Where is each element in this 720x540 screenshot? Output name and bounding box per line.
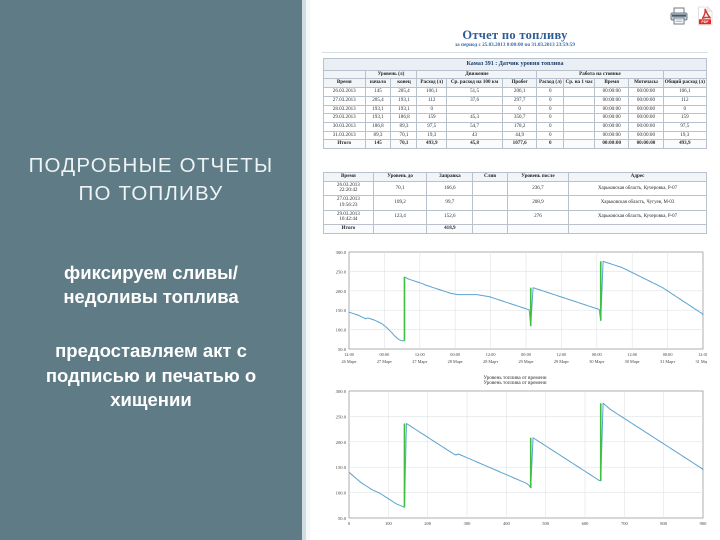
x-tick-time: 12:00 xyxy=(344,352,354,357)
x-tick-time: 00:00 xyxy=(592,352,602,357)
table-total-cell: Итого xyxy=(324,140,366,149)
table-cell: Харьковская область, Чугуев, М-03 xyxy=(569,196,707,210)
table1-caption: Камаз 391 : Датчик уровня топлива xyxy=(324,59,707,71)
table2-col-drain: Слив xyxy=(473,173,507,182)
table-cell: 54,7 xyxy=(447,122,503,131)
table1-col-engine-hours: Моточасы xyxy=(629,79,663,88)
pdf-badge-label: PDF xyxy=(701,20,709,24)
report-period: за период с 25.03.2013 0:00:00 по 31.03.… xyxy=(310,42,720,48)
x-tick-date: 27 Март xyxy=(412,359,427,364)
table1-header-row: Время начало конец Расход (л) Ср. расход… xyxy=(324,79,707,88)
x-tick-date: 30 Март xyxy=(625,359,640,364)
table-cell: 0 xyxy=(537,131,564,140)
x-tick-date: 29 Март xyxy=(518,359,533,364)
table-total-cell: Итого xyxy=(324,224,374,233)
table2-body: 26.03.201322:20:4270,1166,6236,7Харьковс… xyxy=(324,181,707,233)
x-tick-date: 27 Март xyxy=(377,359,392,364)
table-cell: 276 xyxy=(507,210,568,224)
table-cell xyxy=(564,122,595,131)
table2-col-level-before: Уровень до xyxy=(373,173,427,182)
table-cell xyxy=(564,96,595,105)
table-total-cell: 0 xyxy=(537,140,564,149)
table-cell: 00:00:00 xyxy=(595,131,629,140)
table-cell: 00:00:00 xyxy=(595,114,629,123)
left-promo-panel: ПОДРОБНЫЕ ОТЧЕТЫ ПО ТОПЛИВУ фиксируем сл… xyxy=(0,0,302,540)
table2-col-time: Время xyxy=(324,173,374,182)
table-cell: 206,1 xyxy=(503,88,537,97)
table-cell: 193,1 xyxy=(365,105,391,114)
table-cell: 0 xyxy=(503,105,537,114)
x-tick-label: 300 xyxy=(464,521,472,526)
table-cell: 97,5 xyxy=(417,122,447,131)
promo-bullet-2-line1: предоставляем акт с xyxy=(46,339,256,363)
table-cell: 51,5 xyxy=(447,88,503,97)
promo-headline-line2: ПО ТОПЛИВУ xyxy=(29,180,274,208)
y-tick-label: 100.0 xyxy=(336,491,347,496)
table-cell: 109,2 xyxy=(373,196,427,210)
table-cell: 89,3 xyxy=(391,122,417,131)
table-total-cell: 493,9 xyxy=(663,140,706,149)
table-cell: 00:00:00 xyxy=(595,88,629,97)
table1-col-park-time: Время xyxy=(595,79,629,88)
table1-group-header-row: Уровень (л) Движение Работа на стоянке xyxy=(324,70,707,79)
y-tick-label: 150.0 xyxy=(336,465,347,470)
table-cell: 123,4 xyxy=(373,210,427,224)
x-tick-label: 0 xyxy=(348,521,351,526)
table-row: 30.03.2013186,889,397,554,7178,2000:00:0… xyxy=(324,122,707,131)
table1-col-mileage: Пробег xyxy=(503,79,537,88)
table2-col-address: Адрес xyxy=(569,173,707,182)
table1-col-end: конец xyxy=(391,79,417,88)
table2-header-row: Время Уровень до Заправка Слив Уровень п… xyxy=(324,173,707,182)
table-total-cell xyxy=(373,224,427,233)
chart-svg: 50.0100.0150.0200.0250.0300.001002003004… xyxy=(323,386,707,532)
table-cell: 27.03.2013 xyxy=(324,96,366,105)
table-total-cell: 493,9 xyxy=(417,140,447,149)
fuel-summary-table: Камаз 391 : Датчик уровня топлива Уровен… xyxy=(323,58,707,149)
table-cell: 0 xyxy=(417,105,447,114)
x-tick-label: 600 xyxy=(582,521,590,526)
table-total-cell xyxy=(507,224,568,233)
y-tick-label: 300.0 xyxy=(336,389,347,394)
table1-col-start: начало xyxy=(365,79,391,88)
x-tick-date: 31 Март xyxy=(660,359,675,364)
table-cell: 43 xyxy=(447,131,503,140)
y-tick-label: 150.0 xyxy=(336,308,347,313)
table-cell: 166,6 xyxy=(427,181,473,195)
table-cell: 27.03.201319:56:23 xyxy=(324,196,374,210)
table-cell: Харьковская область, Кучеровка, Р-07 xyxy=(569,210,707,224)
report-pane: PDF Отчет по топливу за период с 25.03.2… xyxy=(310,0,720,540)
table-total-cell: 1077,6 xyxy=(503,140,537,149)
x-tick-date: 28 Март xyxy=(448,359,463,364)
table-row: 26.03.2013145205,4106,151,5206,1000:00:0… xyxy=(324,88,707,97)
x-tick-time: 00:00 xyxy=(663,352,673,357)
table-cell: 159 xyxy=(663,114,706,123)
table-cell: Харьковская область, Кучеровка, Р-07 xyxy=(569,181,707,195)
table-total-cell: 418,9 xyxy=(427,224,473,233)
x-tick-date: 28 Март xyxy=(483,359,498,364)
title-divider xyxy=(322,52,708,53)
table1-body: 26.03.2013145205,4106,151,5206,1000:00:0… xyxy=(324,88,707,149)
table-cell: 145 xyxy=(365,88,391,97)
x-tick-time: 12:00 xyxy=(486,352,496,357)
x-tick-time: 00:00 xyxy=(521,352,531,357)
x-tick-time: 12:00 xyxy=(627,352,637,357)
table2-col-level-after: Уровень после xyxy=(507,173,568,182)
table-cell: 205,4 xyxy=(391,88,417,97)
table-total-cell: 00:00:00 xyxy=(629,140,663,149)
promo-bullet-2: предоставляем акт с подписью и печатью о… xyxy=(46,339,256,412)
table-cell: 19,3 xyxy=(417,131,447,140)
table-cell: 29.03.2013 xyxy=(324,114,366,123)
table-cell: 236,7 xyxy=(507,181,568,195)
fuel-level-chart-by-time: 50.0100.0150.0200.0250.0300.012:0026 Мар… xyxy=(323,247,707,375)
x-tick-label: 200 xyxy=(424,521,432,526)
table-total-cell xyxy=(564,140,595,149)
table-cell: 0 xyxy=(537,105,564,114)
table-cell: 193,1 xyxy=(391,105,417,114)
refuel-events-table: Время Уровень до Заправка Слив Уровень п… xyxy=(323,172,707,234)
table-cell: 152,6 xyxy=(427,210,473,224)
table-cell xyxy=(473,181,507,195)
x-tick-label: 800 xyxy=(660,521,668,526)
promo-bullet-1-line1: фиксируем сливы/ xyxy=(63,261,238,285)
table1-col-avg-100km: Ср. расход на 100 км xyxy=(447,79,503,88)
table-cell: 45,3 xyxy=(447,114,503,123)
table-total-cell: 70,1 xyxy=(391,140,417,149)
table-total-row: Итого14570,1493,945,81077,6000:00:0000:0… xyxy=(324,140,707,149)
y-tick-label: 100.0 xyxy=(336,328,347,333)
table-cell: 70,1 xyxy=(391,131,417,140)
table-total-cell xyxy=(569,224,707,233)
table-cell: 00:00:00 xyxy=(595,105,629,114)
table-cell: 205,4 xyxy=(365,96,391,105)
x-tick-label: 900 xyxy=(700,521,707,526)
table-cell: 19,3 xyxy=(663,131,706,140)
table1-group-parking: Работа на стоянке xyxy=(537,70,663,79)
x-tick-time: 12:00 xyxy=(557,352,567,357)
x-tick-label: 100 xyxy=(385,521,393,526)
table-cell: 89,3 xyxy=(365,131,391,140)
table-cell: 0 xyxy=(537,114,564,123)
table-cell xyxy=(564,131,595,140)
table-cell: 00:00:00 xyxy=(629,114,663,123)
table-cell: 350,7 xyxy=(503,114,537,123)
table-cell: 106,1 xyxy=(663,88,706,97)
table-cell: 0 xyxy=(663,105,706,114)
y-tick-label: 300.0 xyxy=(336,250,347,255)
table-cell: 186,8 xyxy=(365,122,391,131)
table-cell: 208,9 xyxy=(507,196,568,210)
table-row: 31.03.201389,370,119,34344,9000:00:0000:… xyxy=(324,131,707,140)
table-cell: 00:00:00 xyxy=(629,88,663,97)
table-cell: 26.03.201322:20:42 xyxy=(324,181,374,195)
table2-col-refuel: Заправка xyxy=(427,173,473,182)
promo-bullet-2-line3: хищении xyxy=(46,388,256,412)
chart2-caption: Уровень топлива от времени xyxy=(323,380,707,386)
table1-col-avg-hour: Ср. на 1 час xyxy=(564,79,595,88)
x-tick-time: 00:00 xyxy=(450,352,460,357)
table-row: 29.03.2013193,1186,815945,3350,7000:00:0… xyxy=(324,114,707,123)
table-cell: 00:00:00 xyxy=(629,131,663,140)
table-cell: 178,2 xyxy=(503,122,537,131)
table-cell xyxy=(564,105,595,114)
table-cell xyxy=(564,114,595,123)
table-total-cell: 145 xyxy=(365,140,391,149)
table-cell xyxy=(473,210,507,224)
table-cell: 112 xyxy=(663,96,706,105)
fuel-level-chart-by-index: 50.0100.0150.0200.0250.0300.001002003004… xyxy=(323,386,707,532)
table-cell: 112 xyxy=(417,96,447,105)
y-tick-label: 200.0 xyxy=(336,289,347,294)
x-tick-time: 12:00 xyxy=(698,352,707,357)
report-title: Отчет по топливу xyxy=(310,28,720,43)
table1-col-park-usage: Расход (л) xyxy=(537,79,564,88)
table-cell xyxy=(473,196,507,210)
table-row: 27.03.201319:56:23109,299,7208,9Харьковс… xyxy=(324,196,707,210)
promo-bullet-1-line2: недоливы топлива xyxy=(63,285,238,309)
table-cell: 193,1 xyxy=(365,114,391,123)
table-row: 29.03.201316:42:44123,4152,6276Харьковск… xyxy=(324,210,707,224)
table1-col-total-usage: Общий расход (л) xyxy=(663,79,706,88)
table1-group-blank-time xyxy=(324,70,366,79)
promo-headline-line1: ПОДРОБНЫЕ ОТЧЕТЫ xyxy=(29,152,274,180)
table1-group-level: Уровень (л) xyxy=(365,70,417,79)
table-cell: 70,1 xyxy=(373,181,427,195)
y-tick-label: 200.0 xyxy=(336,440,347,445)
table-cell: 29.03.201316:42:44 xyxy=(324,210,374,224)
promo-bullet-1: фиксируем сливы/ недоливы топлива xyxy=(63,261,238,310)
y-tick-label: 250.0 xyxy=(336,414,347,419)
table-row: 27.03.2013205,4193,111237,6297,7000:00:0… xyxy=(324,96,707,105)
x-tick-date: 31 Март xyxy=(695,359,707,364)
table-cell: 37,6 xyxy=(447,96,503,105)
table1-col-time: Время xyxy=(324,79,366,88)
table-cell: 97,5 xyxy=(663,122,706,131)
table-cell: 00:00:00 xyxy=(595,122,629,131)
table-cell: 00:00:00 xyxy=(595,96,629,105)
x-tick-label: 400 xyxy=(503,521,511,526)
table-cell: 00:00:00 xyxy=(629,96,663,105)
table-cell xyxy=(564,88,595,97)
table-cell: 193,1 xyxy=(391,96,417,105)
table-cell: 0 xyxy=(537,122,564,131)
table-cell: 31.03.2013 xyxy=(324,131,366,140)
chart-svg: 50.0100.0150.0200.0250.0300.012:0026 Мар… xyxy=(323,247,707,375)
table-total-cell: 45,8 xyxy=(447,140,503,149)
table1-col-move-usage: Расход (л) xyxy=(417,79,447,88)
table-cell: 159 xyxy=(417,114,447,123)
table-row: 26.03.201322:20:4270,1166,6236,7Харьковс… xyxy=(324,181,707,195)
x-tick-label: 500 xyxy=(542,521,550,526)
x-tick-date: 30 Март xyxy=(589,359,604,364)
table-cell: 0 xyxy=(537,88,564,97)
table-cell: 297,7 xyxy=(503,96,537,105)
x-tick-date: 26 Март xyxy=(341,359,356,364)
table1-group-movement: Движение xyxy=(417,70,537,79)
table-cell: 0 xyxy=(537,96,564,105)
table-cell: 44,9 xyxy=(503,131,537,140)
table-total-row: Итого418,9 xyxy=(324,224,707,233)
y-tick-label: 50.0 xyxy=(338,516,347,521)
x-tick-date: 29 Март xyxy=(554,359,569,364)
table-cell: 106,1 xyxy=(417,88,447,97)
table-cell: 99,7 xyxy=(427,196,473,210)
table-cell: 30.03.2013 xyxy=(324,122,366,131)
x-tick-time: 12:00 xyxy=(415,352,425,357)
table-total-cell: 00:00:00 xyxy=(595,140,629,149)
x-tick-time: 00:00 xyxy=(380,352,390,357)
table-cell: 00:00:00 xyxy=(629,122,663,131)
table-cell: 28.03.2013 xyxy=(324,105,366,114)
table-cell: 26.03.2013 xyxy=(324,88,366,97)
table1-group-blank-total xyxy=(663,70,706,79)
x-tick-label: 700 xyxy=(621,521,629,526)
table-cell xyxy=(447,105,503,114)
y-tick-label: 250.0 xyxy=(336,269,347,274)
table-cell: 00:00:00 xyxy=(629,105,663,114)
table-total-cell xyxy=(473,224,507,233)
table-cell: 186,8 xyxy=(391,114,417,123)
promo-headline: ПОДРОБНЫЕ ОТЧЕТЫ ПО ТОПЛИВУ xyxy=(29,152,274,209)
screenshot-root: ПОДРОБНЫЕ ОТЧЕТЫ ПО ТОПЛИВУ фиксируем сл… xyxy=(0,0,720,540)
table-row: 28.03.2013193,1193,100000:00:0000:00:000 xyxy=(324,105,707,114)
promo-bullet-2-line2: подписью и печатью о xyxy=(46,364,256,388)
